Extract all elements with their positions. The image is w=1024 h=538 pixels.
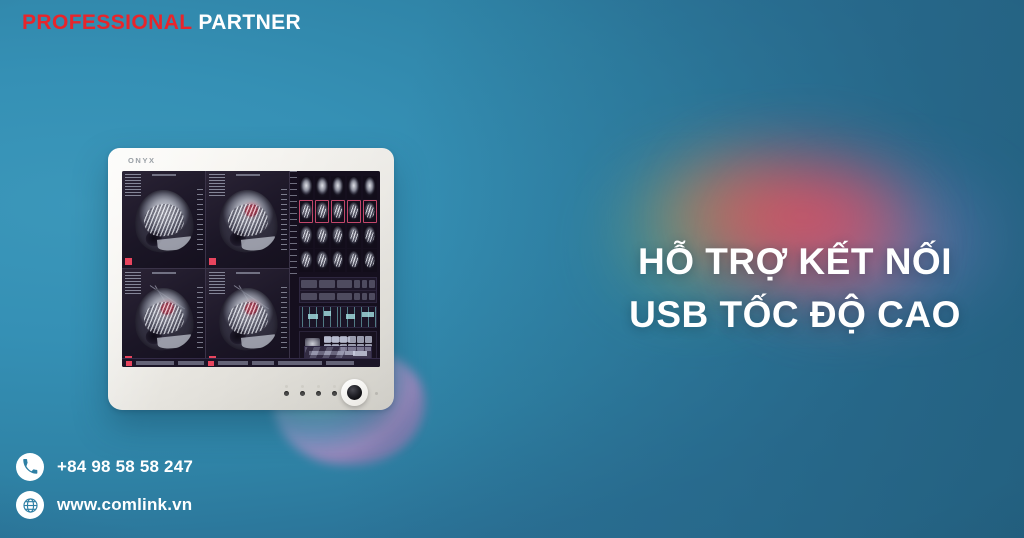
tool-button[interactable]: [357, 336, 364, 343]
website-url: www.comlink.vn: [57, 495, 192, 515]
brain-scan-image: [131, 286, 195, 354]
quadrant-info-text: [209, 272, 225, 294]
quadrant-scale-ruler: [197, 287, 203, 352]
table-cell: [354, 280, 360, 288]
slice-thumbnail[interactable]: [363, 176, 377, 199]
table-cell: [337, 293, 353, 301]
slice-image: [348, 251, 360, 271]
waveform-block: [346, 314, 355, 319]
slice-thumbnail[interactable]: [299, 225, 313, 248]
button-dot[interactable]: [316, 391, 321, 396]
globe-icon: [16, 491, 44, 519]
button-led: [333, 385, 336, 388]
slice-thumbnail-selected[interactable]: [315, 200, 329, 223]
waveform-trace: [338, 307, 376, 327]
button-dot[interactable]: [284, 391, 289, 396]
screen-bottom-toolbar[interactable]: [122, 358, 380, 367]
quadrant-scale-ruler: [281, 287, 287, 352]
slice-thumbnail[interactable]: [299, 249, 313, 272]
brain-scan-image: [131, 188, 195, 256]
table-cell: [319, 280, 335, 288]
contact-block: +84 98 58 58 247 www.comlink.vn: [16, 448, 193, 524]
table-cell: [301, 293, 317, 301]
slice-thumbnail[interactable]: [331, 249, 345, 272]
slice-thumbnail[interactable]: [347, 176, 361, 199]
jaw-structure: [156, 335, 191, 350]
waveform-block: [308, 314, 318, 319]
contact-website-row[interactable]: www.comlink.vn: [16, 486, 193, 524]
quadrant-title-text: [152, 272, 176, 274]
quadrant-scale-ruler: [281, 189, 287, 254]
toolbar-marker: [208, 361, 214, 366]
brand-banner: PROFESSIONAL PARTNER: [22, 12, 301, 33]
study-list-table[interactable]: [299, 277, 377, 303]
quadrant-title-text: [152, 174, 176, 176]
status-bar-stripes: [304, 347, 345, 358]
monitor-button[interactable]: [332, 385, 337, 396]
button-dot[interactable]: [300, 391, 305, 396]
status-bar-badge: [353, 351, 367, 356]
toolbar-item: [136, 361, 174, 365]
toolbar-item: [218, 361, 248, 365]
slice-image: [316, 226, 328, 246]
table-cell: [369, 293, 375, 301]
screen-layout: [122, 171, 380, 367]
quadrant-marker: [125, 258, 132, 265]
slice-image: [364, 226, 376, 246]
slice-thumbnail-selected[interactable]: [331, 200, 345, 223]
slice-thumbnail[interactable]: [331, 176, 345, 199]
slice-thumbnail-grid[interactable]: [290, 171, 380, 275]
slice-image: [300, 202, 312, 222]
slice-image: [300, 178, 312, 198]
power-button-core: [347, 385, 362, 400]
slice-thumbnail[interactable]: [363, 225, 377, 248]
slice-image: [300, 226, 312, 246]
slice-image: [316, 202, 328, 222]
slice-thumbnail[interactable]: [299, 176, 313, 199]
headline-line-2: USB TỐC ĐỘ CAO: [592, 289, 998, 342]
monitor-control-buttons[interactable]: [284, 385, 337, 396]
quadrant-info-text: [125, 174, 141, 196]
quadrant-title-text: [236, 272, 260, 274]
table-cell: [362, 280, 368, 288]
button-led: [285, 385, 288, 388]
jaw-structure: [240, 237, 275, 252]
toolbar-item: [278, 361, 322, 365]
monitor-button[interactable]: [284, 385, 289, 396]
mri-quadrant[interactable]: [122, 269, 206, 367]
mri-quadrant[interactable]: [122, 171, 206, 269]
slice-image: [348, 226, 360, 246]
contact-phone-row[interactable]: +84 98 58 58 247: [16, 448, 193, 486]
quadrant-marker: [209, 258, 216, 265]
tool-button[interactable]: [332, 336, 339, 343]
quadrant-scale-ruler: [197, 189, 203, 254]
tool-button[interactable]: [365, 336, 372, 343]
table-row[interactable]: [300, 278, 376, 291]
table-cell: [362, 293, 368, 301]
jaw-structure: [156, 237, 191, 252]
slice-image: [332, 251, 344, 271]
mri-quadrant[interactable]: [206, 171, 290, 269]
toolbar-item: [326, 361, 354, 365]
waveform-block: [324, 311, 331, 316]
lesion-highlight: [243, 302, 257, 315]
table-cell: [337, 280, 353, 288]
monitor-brand-logo: ONYX: [128, 156, 156, 165]
slice-image: [364, 251, 376, 271]
brand-word-professional: PROFESSIONAL: [22, 11, 192, 34]
slice-image: [332, 178, 344, 198]
waveform-panel: [299, 306, 377, 328]
mri-quadrant[interactable]: [206, 269, 290, 367]
brand-word-partner: PARTNER: [198, 11, 301, 34]
toolbar-item: [178, 361, 204, 365]
medical-monitor: ONYX: [108, 148, 394, 410]
mri-quadrant-panel: [122, 171, 290, 367]
table-cell: [301, 280, 317, 288]
slice-thumbnail[interactable]: [331, 225, 345, 248]
slice-thumbnail[interactable]: [363, 249, 377, 272]
brain-scan-image: [215, 286, 279, 354]
slice-image: [316, 251, 328, 271]
jaw-structure: [240, 335, 275, 350]
table-cell: [369, 280, 375, 288]
slice-image: [332, 202, 344, 222]
series-panel: [290, 171, 380, 367]
tool-button[interactable]: [324, 336, 331, 343]
waveform-block: [362, 312, 374, 317]
lesion-highlight: [159, 302, 173, 315]
series-scale-ruler: [290, 171, 297, 275]
toolbar-item: [252, 361, 274, 365]
monitor-button[interactable]: [316, 385, 321, 396]
slice-thumbnail-selected[interactable]: [363, 200, 377, 223]
button-led: [317, 385, 320, 388]
slice-image: [332, 226, 344, 246]
slice-thumbnail[interactable]: [347, 225, 361, 248]
slice-thumbnail-selected[interactable]: [299, 200, 313, 223]
slice-image: [348, 178, 360, 198]
button-dot[interactable]: [332, 391, 337, 396]
slice-image: [364, 178, 376, 198]
slice-image: [316, 178, 328, 198]
page-title: HỖ TRỢ KẾT NỐI USB TỐC ĐỘ CAO: [592, 236, 998, 341]
slice-image: [364, 202, 376, 222]
power-button[interactable]: [341, 379, 368, 406]
slice-thumbnail-selected[interactable]: [347, 200, 361, 223]
tool-button[interactable]: [348, 336, 355, 343]
tool-button[interactable]: [340, 336, 347, 343]
slice-image: [348, 202, 360, 222]
phone-number: +84 98 58 58 247: [57, 457, 193, 477]
table-cell: [319, 293, 335, 301]
slice-thumbnail[interactable]: [347, 249, 361, 272]
waveform-trace: [300, 307, 338, 327]
brain-scan-image: [215, 188, 279, 256]
button-led: [301, 385, 304, 388]
lesion-highlight: [243, 204, 257, 217]
quadrant-info-text: [209, 174, 225, 196]
monitor-screen: [122, 171, 380, 367]
quadrant-info-text: [125, 272, 141, 294]
table-row[interactable]: [300, 291, 376, 303]
power-indicator-led: [375, 392, 378, 395]
headline-line-1: HỖ TRỢ KẾT NỐI: [592, 236, 998, 289]
slice-thumbnail[interactable]: [315, 225, 329, 248]
quadrant-title-text: [236, 174, 260, 176]
slice-image: [300, 251, 312, 271]
slice-thumbnail[interactable]: [315, 249, 329, 272]
table-cell: [354, 293, 360, 301]
slice-thumbnail[interactable]: [315, 176, 329, 199]
monitor-button[interactable]: [300, 385, 305, 396]
phone-icon: [16, 453, 44, 481]
toolbar-marker: [126, 361, 132, 366]
